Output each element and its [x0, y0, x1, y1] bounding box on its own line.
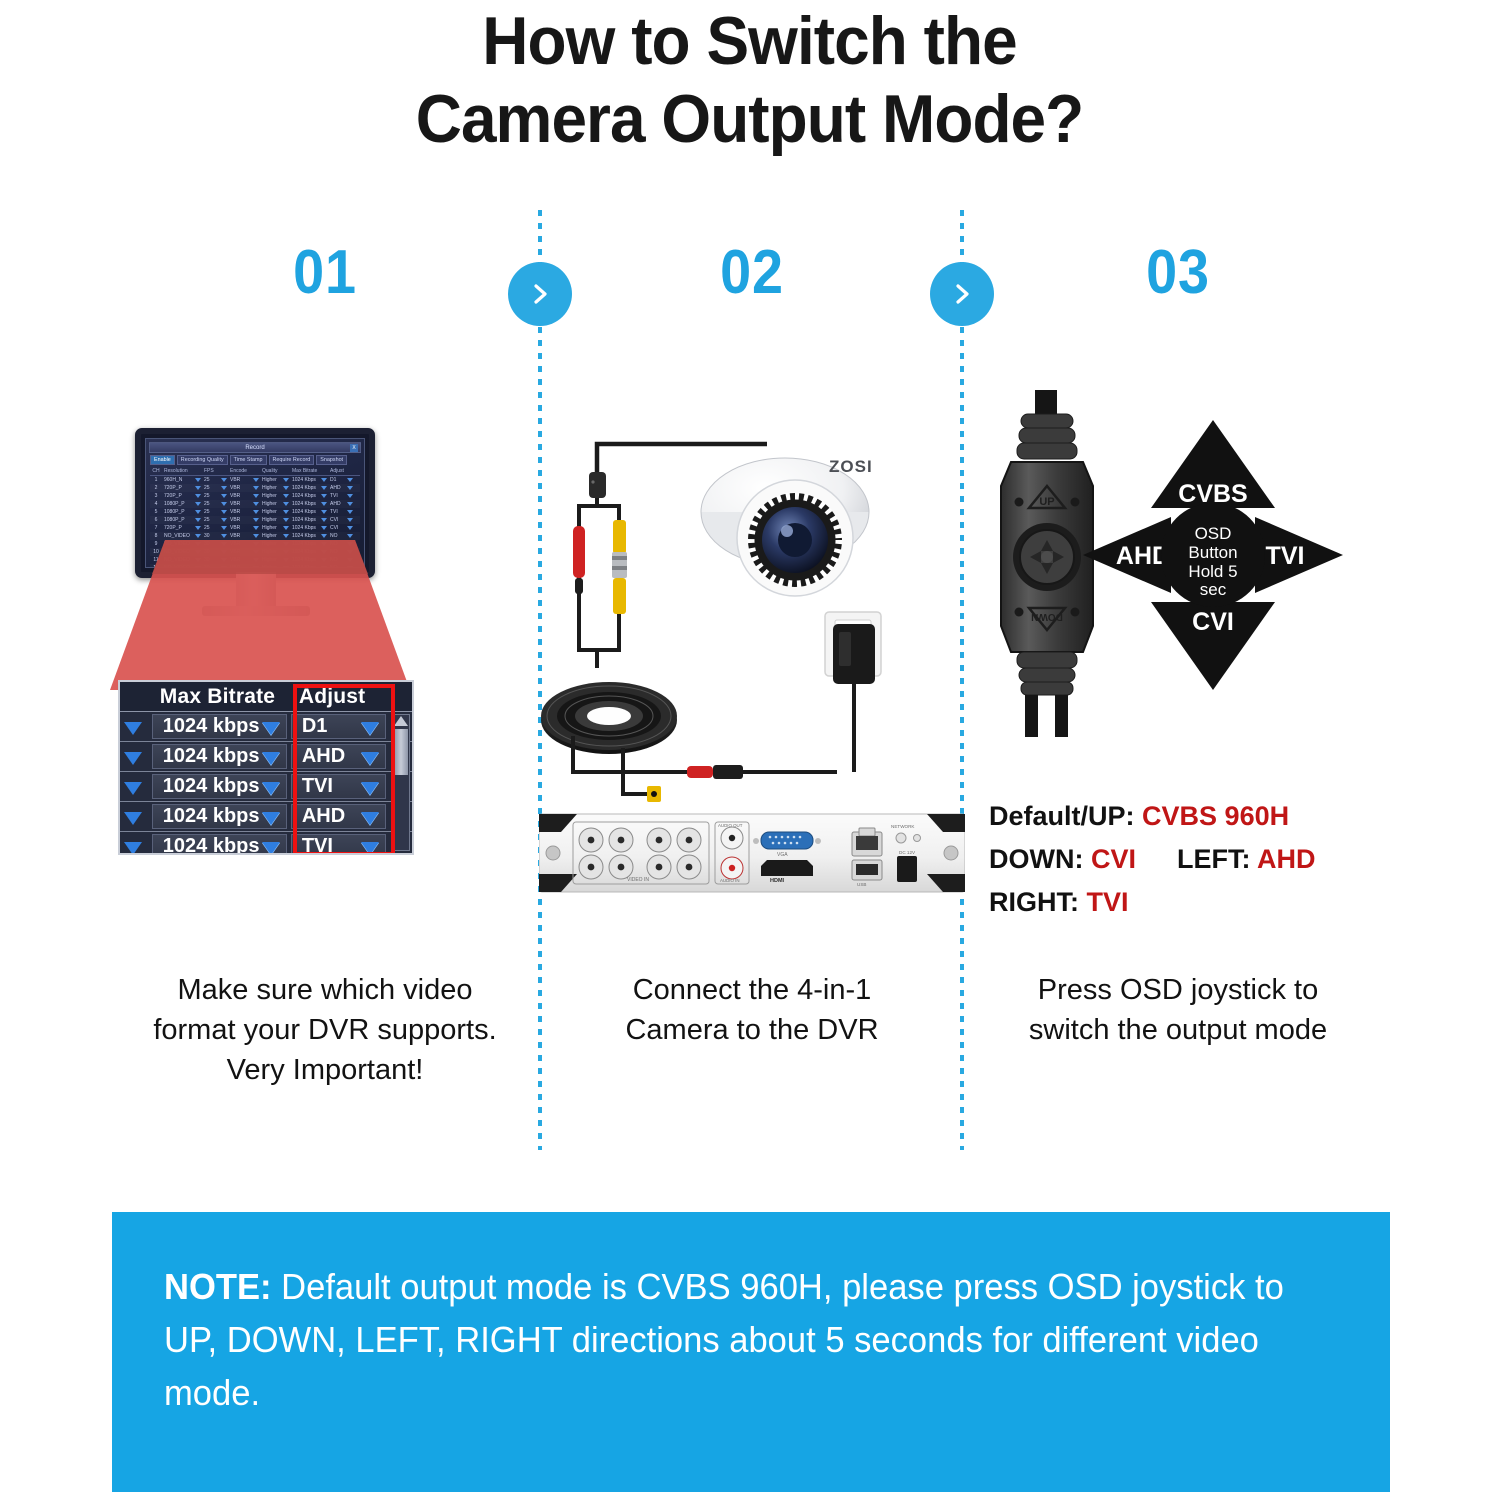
power-adapter [825, 612, 881, 772]
step-2-caption: Connect the 4-in-1 Camera to the DVR [537, 970, 967, 1050]
step-2-caption-line2: Camera to the DVR [537, 1010, 967, 1050]
chevron-down-icon [195, 510, 201, 514]
mode-legend-row-1: Default/UP: CVBS 960H [989, 795, 1389, 838]
step-1-caption-line1: Make sure which video [110, 970, 540, 1010]
dvr-table-row[interactable]: 41080P_P25VBRHigher1024 KbpsAHD [150, 500, 360, 508]
dvr-cell-ch: 3 [150, 492, 162, 500]
mode-legend-label-1: Default/UP: [989, 801, 1135, 831]
dvr-cell-bitrate[interactable]: 1024 Kbps [290, 532, 328, 540]
osd-center-line1: OSD [1195, 524, 1232, 543]
dvr-cell-fps[interactable]: 25 [202, 508, 228, 516]
chevron-down-icon [195, 534, 201, 538]
dvr-cell-fps[interactable]: 25 [202, 500, 228, 508]
dvr-cell-ch: 2 [150, 484, 162, 492]
zoomed-row-left-stepper[interactable] [120, 742, 150, 771]
mode-legend: Default/UP: CVBS 960H DOWN: CVI LEFT: AH… [989, 795, 1389, 924]
chevron-down-icon [195, 526, 201, 530]
chevron-down-icon [195, 478, 201, 482]
chevron-down-icon [124, 722, 142, 735]
mode-legend-label-2: DOWN: [989, 844, 1083, 874]
osd-joystick-illustration: UP DOWN [963, 390, 1393, 790]
svg-text:AUDIO IN: AUDIO IN [720, 878, 740, 883]
mode-legend-label-3: LEFT: [1177, 844, 1251, 874]
joystick-diagram: UP DOWN [963, 390, 1393, 790]
dvr-tab-time-stamp[interactable]: Time Stamp [230, 455, 267, 465]
dvr-cell-quality[interactable]: Higher [260, 500, 290, 508]
dvr-cell-resolution[interactable]: 720P_P [162, 492, 202, 500]
chevron-down-icon [283, 502, 289, 506]
chevron-down-icon [262, 722, 280, 735]
chevron-down-icon [195, 486, 201, 490]
dvr-cell-fps[interactable]: 25 [202, 524, 228, 532]
direction-right: TVI [1255, 517, 1343, 593]
mode-legend-row-3: RIGHT: TVI [989, 881, 1389, 924]
dvr-table-row[interactable]: 7720P_P25VBRHigher1024 KbpsCVI [150, 524, 360, 532]
chevron-down-icon [321, 486, 327, 490]
step-1-number: 01 [132, 242, 519, 304]
chevron-down-icon [347, 486, 353, 490]
step-3-number: 03 [985, 242, 1372, 304]
svg-text:NETWORK: NETWORK [891, 824, 915, 829]
dvr-cell-ch: 6 [150, 516, 162, 524]
dvr-cell-encode[interactable]: VBR [228, 500, 260, 508]
svg-text:VGA: VGA [777, 852, 788, 858]
direction-left: AHD [1083, 517, 1171, 593]
mode-legend-value-4: TVI [1087, 887, 1129, 917]
chevron-down-icon [253, 518, 259, 522]
dvr-cell-quality[interactable]: Higher [260, 516, 290, 524]
chevron-down-icon [321, 502, 327, 506]
note-prefix: NOTE: [164, 1266, 272, 1307]
dvr-cell-ch: 4 [150, 500, 162, 508]
chevron-down-icon [221, 494, 227, 498]
step-3-caption-line2: switch the output mode [963, 1010, 1393, 1050]
dvr-cell-ch: 8 [150, 532, 162, 540]
dvr-cell-resolution[interactable]: 1080P_P [162, 500, 202, 508]
step-3: 03 [963, 210, 1393, 1170]
chevron-down-icon [253, 486, 259, 490]
zoomed-row-left-stepper[interactable] [120, 802, 150, 831]
dvr-cell-quality[interactable]: Higher [260, 476, 290, 484]
chevron-down-icon [253, 534, 259, 538]
step-1: 01 Record X Enable Recording Quality Tim… [110, 210, 540, 1170]
chevron-down-icon [283, 510, 289, 514]
chevron-down-icon [124, 812, 142, 825]
chevron-down-icon [262, 842, 280, 855]
chevron-down-icon [262, 752, 280, 765]
svg-text:HDMI: HDMI [770, 878, 785, 884]
chevron-down-icon [347, 478, 353, 482]
svg-text:ZOSI: ZOSI [829, 457, 873, 476]
chevron-down-icon [124, 782, 142, 795]
dvr-cell-bitrate[interactable]: 1024 Kbps [290, 484, 328, 492]
dvr-tab-recording-quality[interactable]: Recording Quality [177, 455, 228, 465]
chevron-down-icon [321, 526, 327, 530]
dvr-cell-adjust[interactable]: D1 [328, 476, 354, 484]
dvr-rear-panel-svg: VIDEO IN AUDIO OUT AUDIO IN [539, 810, 965, 902]
page-title-line2: Camera Output Mode? [45, 80, 1454, 158]
note-text: NOTE: Default output mode is CVBS 960H, … [164, 1260, 1306, 1419]
zoomed-cell-max-bitrate[interactable]: 1024 kbps [152, 744, 287, 769]
zoomed-cell-max-bitrate[interactable]: 1024 kbps [152, 774, 287, 799]
mode-legend-row-2: DOWN: CVI LEFT: AHD [989, 838, 1389, 881]
svg-text:DOWN: DOWN [1031, 611, 1063, 622]
dvr-cell-encode[interactable]: VBR [228, 492, 260, 500]
zoomed-cell-max-bitrate[interactable]: 1024 kbps [152, 714, 287, 739]
zoomed-cell-max-bitrate[interactable]: 1024 kbps [152, 804, 287, 829]
chevron-down-icon [221, 478, 227, 482]
dvr-cell-quality[interactable]: Higher [260, 492, 290, 500]
chevron-down-icon [253, 526, 259, 530]
chevron-down-icon [124, 752, 142, 765]
direction-down: CVI [1151, 602, 1275, 690]
zoomed-row-left-stepper[interactable] [120, 832, 150, 855]
step-3-caption-line1: Press OSD joystick to [963, 970, 1393, 1010]
dvr-col-quality: Quality [260, 467, 290, 475]
dvr-cell-encode[interactable]: VBR [228, 484, 260, 492]
dvr-cell-adjust[interactable]: CVI [328, 524, 354, 532]
dvr-cell-quality[interactable]: Higher [260, 484, 290, 492]
dvr-cell-encode[interactable]: VBR [228, 524, 260, 532]
dvr-cell-adjust[interactable]: AHD [328, 500, 354, 508]
mode-legend-value-1: CVBS 960H [1142, 801, 1289, 831]
zoom-beam [110, 540, 410, 690]
dvr-col-encode: Encode [228, 467, 260, 475]
direction-right-label: TVI [1266, 542, 1305, 570]
note-body: Default output mode is CVBS 960H, please… [164, 1266, 1284, 1413]
chevron-down-icon [253, 502, 259, 506]
step-1-caption-line3: Very Important! [110, 1050, 540, 1090]
step-3-caption: Press OSD joystick to switch the output … [963, 970, 1393, 1050]
chevron-down-icon [283, 486, 289, 490]
dvr-table-row[interactable]: 8NO_VIDEO30VBRHigher1024 KbpsNO [150, 532, 360, 540]
mode-legend-value-2: CVI [1091, 844, 1136, 874]
mode-legend-label-4: RIGHT: [989, 887, 1079, 917]
chevron-down-icon [221, 534, 227, 538]
zoomed-row-left-stepper[interactable] [120, 712, 150, 741]
chevron-down-icon [195, 518, 201, 522]
dome-camera: ZOSI [701, 457, 873, 596]
dvr-cell-bitrate[interactable]: 1024 Kbps [290, 492, 328, 500]
dvr-tabs: Enable Recording Quality Time Stamp Requ… [150, 455, 360, 465]
dvr-cell-encode[interactable]: VBR [228, 508, 260, 516]
dvr-cell-encode[interactable]: VBR [228, 476, 260, 484]
steps-container: 01 Record X Enable Recording Quality Tim… [0, 210, 1499, 1170]
scrollbar-thumb[interactable] [394, 729, 408, 775]
note-banner: NOTE: Default output mode is CVBS 960H, … [112, 1212, 1390, 1492]
chevron-down-icon [347, 526, 353, 530]
chevron-down-icon [221, 502, 227, 506]
dvr-cell-ch: 7 [150, 524, 162, 532]
chevron-down-icon [253, 478, 259, 482]
dvr-cell-fps[interactable]: 25 [202, 516, 228, 524]
dvr-cell-fps[interactable]: 25 [202, 492, 228, 500]
close-icon[interactable]: X [350, 444, 358, 452]
dvr-tab-snapshot[interactable]: Snapshot [316, 455, 347, 465]
dvr-cell-resolution[interactable]: 720P_P [162, 524, 202, 532]
dvr-cell-fps[interactable]: 25 [202, 476, 228, 484]
chevron-down-icon [195, 502, 201, 506]
osd-center-line2: Button [1188, 543, 1237, 562]
osd-center-button: OSD Button Hold 5 sec [1161, 503, 1265, 607]
dvr-cell-bitrate[interactable]: 1024 Kbps [290, 516, 328, 524]
dvr-cell-adjust[interactable]: TVI [328, 492, 354, 500]
dvr-cell-fps[interactable]: 25 [202, 484, 228, 492]
adjust-column-highlight [293, 684, 395, 855]
svg-text:UP: UP [1039, 496, 1054, 508]
chevron-down-icon [221, 510, 227, 514]
chevron-down-icon [347, 518, 353, 522]
svg-text:DC 12V: DC 12V [899, 850, 916, 855]
dvr-cell-resolution[interactable]: 960H_N [162, 476, 202, 484]
chevron-down-icon [283, 494, 289, 498]
dvr-table-row[interactable]: 61080P_P25VBRHigher1024 KbpsCVI [150, 516, 360, 524]
osd-center-line4: sec [1200, 580, 1227, 599]
zoomed-record-table: Max Bitrate Adjust 1024 kbpsD11024 kbpsA… [118, 680, 414, 855]
dvr-cell-adjust[interactable]: AHD [328, 484, 354, 492]
dvr-cell-resolution[interactable]: 1080P_P [162, 508, 202, 516]
svg-text:USB: USB [857, 882, 866, 887]
chevron-down-icon [262, 812, 280, 825]
coiled-cable [541, 682, 677, 754]
dvr-cell-quality[interactable]: Higher [260, 524, 290, 532]
zoomed-header-spacer [120, 682, 150, 711]
dvr-cell-encode[interactable]: VBR [228, 532, 260, 540]
step-1-caption: Make sure which video format your DVR su… [110, 970, 540, 1090]
dvr-cell-fps[interactable]: 30 [202, 532, 228, 540]
direction-down-label: CVI [1192, 608, 1234, 636]
chevron-down-icon [321, 518, 327, 522]
dvr-col-adjust: Adjust [328, 467, 354, 475]
dvr-table-row[interactable]: 51080P_P25VBRHigher1024 KbpsTVI [150, 508, 360, 516]
chevron-down-icon [321, 494, 327, 498]
zoomed-col-max-bitrate: Max Bitrate [150, 682, 289, 711]
chevron-down-icon [347, 510, 353, 514]
dvr-table-header: CH Resolution FPS Encode Quality Max Bit… [150, 467, 360, 476]
step-2: 02 [537, 210, 967, 1170]
dvr-cell-resolution[interactable]: 720P_P [162, 484, 202, 492]
chevron-down-icon [221, 518, 227, 522]
chevron-down-icon [321, 478, 327, 482]
dvr-window-title: Record [245, 445, 264, 451]
zoomed-cell-max-bitrate[interactable]: 1024 kbps [152, 834, 287, 855]
dvr-cell-resolution[interactable]: NO_VIDEO [162, 532, 202, 540]
chevron-down-icon [124, 842, 142, 855]
dvr-table-row[interactable]: 1960H_N25VBRHigher1024 KbpsD1 [150, 476, 360, 484]
svg-text:AUDIO OUT: AUDIO OUT [718, 823, 743, 828]
dvr-cell-adjust[interactable]: NO [328, 532, 354, 540]
dvr-col-resolution: Resolution [162, 467, 202, 475]
scroll-up-icon[interactable] [394, 716, 408, 726]
dvr-col-ch: CH [150, 467, 162, 475]
dvr-cell-quality[interactable]: Higher [260, 532, 290, 540]
dvr-col-max-bitrate: Max Bitrate [290, 467, 328, 475]
chevron-down-icon [195, 494, 201, 498]
chevron-down-icon [221, 526, 227, 530]
chevron-down-icon [347, 502, 353, 506]
dvr-table-row[interactable]: 2720P_P25VBRHigher1024 KbpsAHD [150, 484, 360, 492]
chevron-down-icon [321, 534, 327, 538]
dvr-cell-bitrate[interactable]: 1024 Kbps [290, 476, 328, 484]
chevron-down-icon [283, 526, 289, 530]
dvr-cell-bitrate[interactable]: 1024 Kbps [290, 500, 328, 508]
chevron-down-icon [321, 510, 327, 514]
chevron-down-icon [283, 478, 289, 482]
dvr-cell-bitrate[interactable]: 1024 Kbps [290, 524, 328, 532]
dvr-rear-panel: VIDEO IN AUDIO OUT AUDIO IN [539, 810, 965, 902]
dvr-cell-resolution[interactable]: 1080P_P [162, 516, 202, 524]
dvr-cell-adjust[interactable]: CVI [328, 516, 354, 524]
dvr-tab-enable[interactable]: Enable [150, 455, 175, 465]
dvr-table-row[interactable]: 3720P_P25VBRHigher1024 KbpsTVI [150, 492, 360, 500]
chevron-down-icon [262, 782, 280, 795]
zoomed-row-left-stepper[interactable] [120, 772, 150, 801]
dvr-cell-ch: 1 [150, 476, 162, 484]
step-1-caption-line2: format your DVR supports. [110, 1010, 540, 1050]
dvr-window-titlebar: Record X [149, 442, 361, 453]
chevron-down-icon [253, 494, 259, 498]
direction-up: CVBS [1151, 420, 1275, 508]
mode-legend-value-3: AHD [1257, 844, 1316, 874]
chevron-down-icon [347, 534, 353, 538]
dvr-cell-encode[interactable]: VBR [228, 516, 260, 524]
chevron-down-icon [283, 534, 289, 538]
dvr-cell-ch: 5 [150, 508, 162, 516]
svg-text:VIDEO IN: VIDEO IN [627, 877, 649, 883]
chevron-down-icon [347, 494, 353, 498]
dvr-cell-adjust[interactable]: TVI [328, 508, 354, 516]
step-2-caption-line1: Connect the 4-in-1 [537, 970, 967, 1010]
dvr-cell-quality[interactable]: Higher [260, 508, 290, 516]
step-2-number: 02 [559, 242, 946, 304]
dvr-tab-require-record[interactable]: Require Record [269, 455, 315, 465]
dvr-col-fps: FPS [202, 467, 228, 475]
chevron-down-icon [253, 510, 259, 514]
page-title-line1: How to Switch the [45, 2, 1454, 80]
page-title: How to Switch the Camera Output Mode? [45, 2, 1454, 158]
osd-center-line3: Hold 5 [1188, 562, 1237, 581]
dvr-cell-bitrate[interactable]: 1024 Kbps [290, 508, 328, 516]
chevron-down-icon [221, 486, 227, 490]
chevron-down-icon [283, 518, 289, 522]
